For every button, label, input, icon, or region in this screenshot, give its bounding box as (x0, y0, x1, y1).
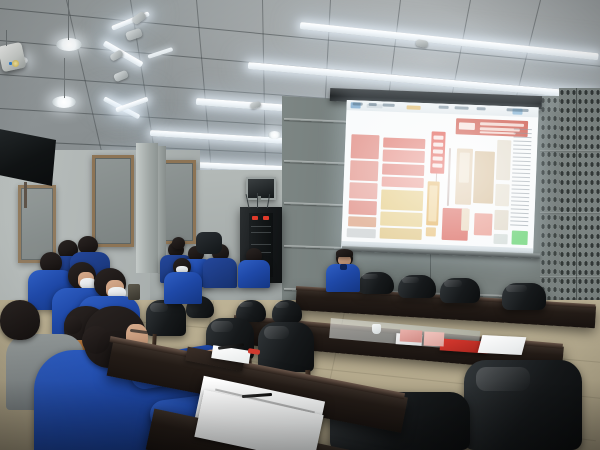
chair-highlight (239, 302, 253, 308)
small-wall-monitor (246, 177, 276, 200)
rack-status-led (263, 216, 269, 220)
hair-bun (82, 326, 110, 354)
chair-highlight (402, 277, 419, 283)
empty-chair[interactable] (272, 300, 302, 323)
rack-vent-slot (251, 244, 271, 245)
foreground-chair[interactable] (464, 360, 582, 450)
screen-glare (341, 100, 539, 255)
attendee-head (0, 300, 40, 340)
wall-trim-seam (540, 212, 600, 213)
waste-bin (128, 284, 140, 300)
paper-cup[interactable] (372, 324, 381, 334)
chair-highlight (264, 326, 290, 339)
pink-document (424, 331, 445, 346)
chair-highlight (506, 285, 526, 292)
wall-trim-seam (540, 150, 600, 151)
attendee-head (172, 237, 185, 249)
hair-bun (64, 316, 82, 334)
frame-inner (163, 163, 193, 241)
chair-highlight (362, 274, 379, 280)
pendant-rod (68, 0, 69, 40)
chair-highlight (211, 321, 233, 332)
attendee-body (203, 258, 237, 288)
chair-highlight (476, 367, 530, 390)
presenter-collar (340, 264, 347, 270)
downlight (56, 38, 82, 51)
empty-chair[interactable] (398, 275, 436, 298)
conference-room-photo (0, 0, 600, 450)
chair-highlight (444, 280, 462, 287)
rack-vent-slot (251, 226, 271, 227)
empty-chair[interactable] (502, 283, 546, 310)
empty-chair[interactable] (440, 278, 480, 303)
attendee-body (196, 232, 222, 254)
pendant-rod (64, 58, 65, 98)
panel-divider (576, 88, 577, 326)
rack-antenna (257, 193, 258, 208)
chair-highlight (275, 302, 289, 308)
wall-trim-seam (540, 276, 600, 277)
attendee-body (238, 260, 270, 288)
white-paper-sheet[interactable] (478, 335, 527, 355)
projector-led-icon (9, 62, 12, 65)
wall-frame-panel (92, 155, 134, 247)
frame-inner (95, 158, 131, 244)
pink-document (400, 329, 423, 342)
rack-vent-slot (251, 232, 271, 233)
tv-mount-arm (24, 182, 27, 208)
attendee-body (164, 272, 202, 304)
empty-chair[interactable] (146, 300, 186, 336)
projector-mount (6, 30, 7, 46)
empty-chair[interactable] (258, 322, 314, 372)
rack-status-led (252, 216, 258, 220)
empty-chair[interactable] (358, 272, 394, 294)
wall-column (136, 143, 158, 273)
downlight (268, 131, 281, 139)
perforated-acoustic-panel (559, 88, 600, 326)
projector-lens-icon (12, 60, 19, 67)
projection-screen[interactable] (341, 100, 539, 255)
presenter-hair (336, 249, 353, 257)
chair-highlight (150, 303, 168, 312)
